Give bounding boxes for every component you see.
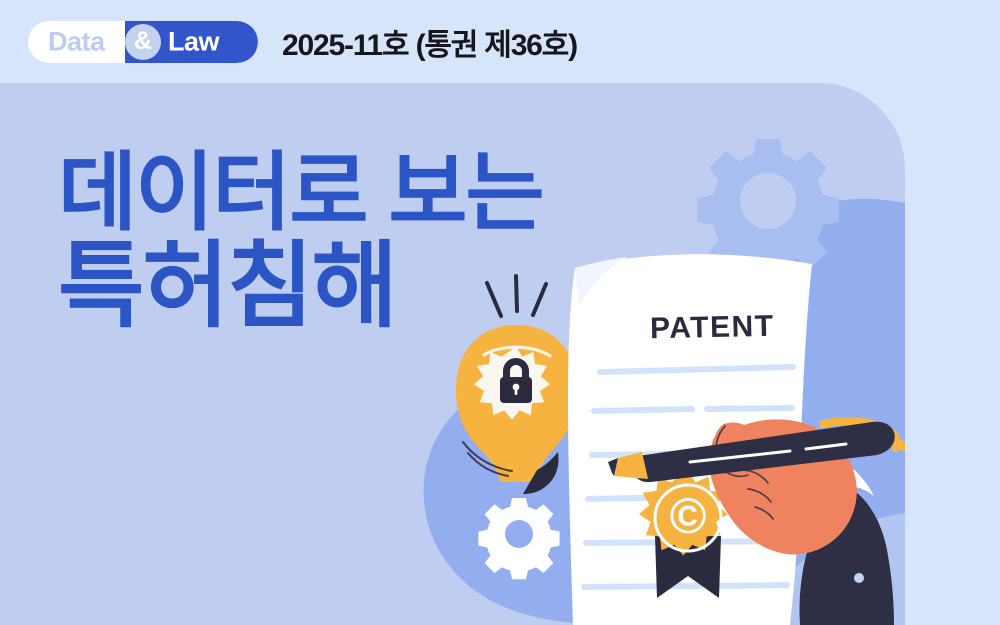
issue-number-label: 2025-11호 (통권 제36호)	[282, 20, 577, 64]
hero-title: 데이터로 보는 특허침해	[58, 152, 543, 331]
logo-ampersand-text: &	[134, 29, 152, 54]
logo-law-text: Law	[168, 28, 219, 55]
document-title-label: PATENT	[650, 310, 775, 347]
gear-outline-icon	[697, 139, 839, 281]
magazine-cover-banner: Data & Law 2025-11호 (통권 제36호) 데이터로 보는 특허…	[0, 0, 1000, 625]
data-and-law-logo[interactable]: Data & Law	[28, 21, 258, 63]
hero-title-line-2: 특허침해	[58, 241, 543, 331]
logo-data-text: Data	[48, 28, 105, 55]
hero-title-line-1: 데이터로 보는	[58, 152, 543, 235]
logo-ampersand-circle: &	[125, 24, 161, 60]
header-bar: Data & Law 2025-11호 (통권 제36호)	[0, 0, 1000, 83]
